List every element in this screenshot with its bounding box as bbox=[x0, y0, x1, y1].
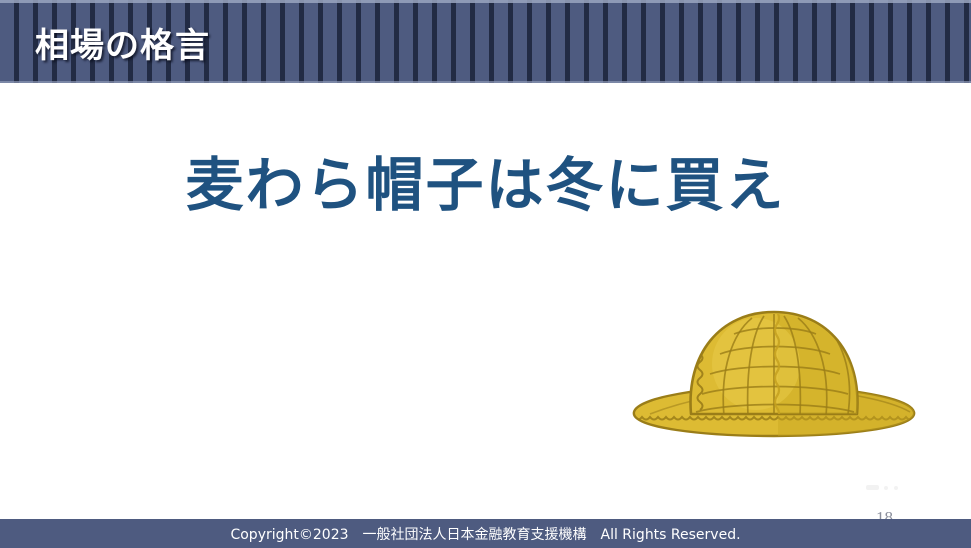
hat-crown bbox=[691, 296, 868, 426]
watermark-speck-3 bbox=[894, 486, 898, 490]
header-bottom-divider bbox=[0, 81, 971, 83]
watermark-speck-1 bbox=[866, 485, 879, 490]
slide-header-title: 相場の格言 bbox=[35, 18, 210, 67]
straw-hat-illustration bbox=[628, 296, 920, 442]
watermark-speck-2 bbox=[884, 486, 888, 490]
slide-main-title: 麦わら帽子は冬に買え bbox=[0, 138, 971, 222]
watermark-specks bbox=[866, 483, 906, 493]
slide: 相場の格言 麦わら帽子は冬に買え bbox=[0, 0, 971, 548]
straw-hat-icon bbox=[628, 296, 920, 442]
header-top-divider bbox=[0, 0, 971, 3]
slide-header-banner: 相場の格言 bbox=[0, 0, 971, 83]
footer-copyright-text: Copyright©2023 一般社団法人日本金融教育支援機構 All Righ… bbox=[0, 519, 971, 548]
slide-footer-bar: Copyright©2023 一般社団法人日本金融教育支援機構 All Righ… bbox=[0, 519, 971, 548]
